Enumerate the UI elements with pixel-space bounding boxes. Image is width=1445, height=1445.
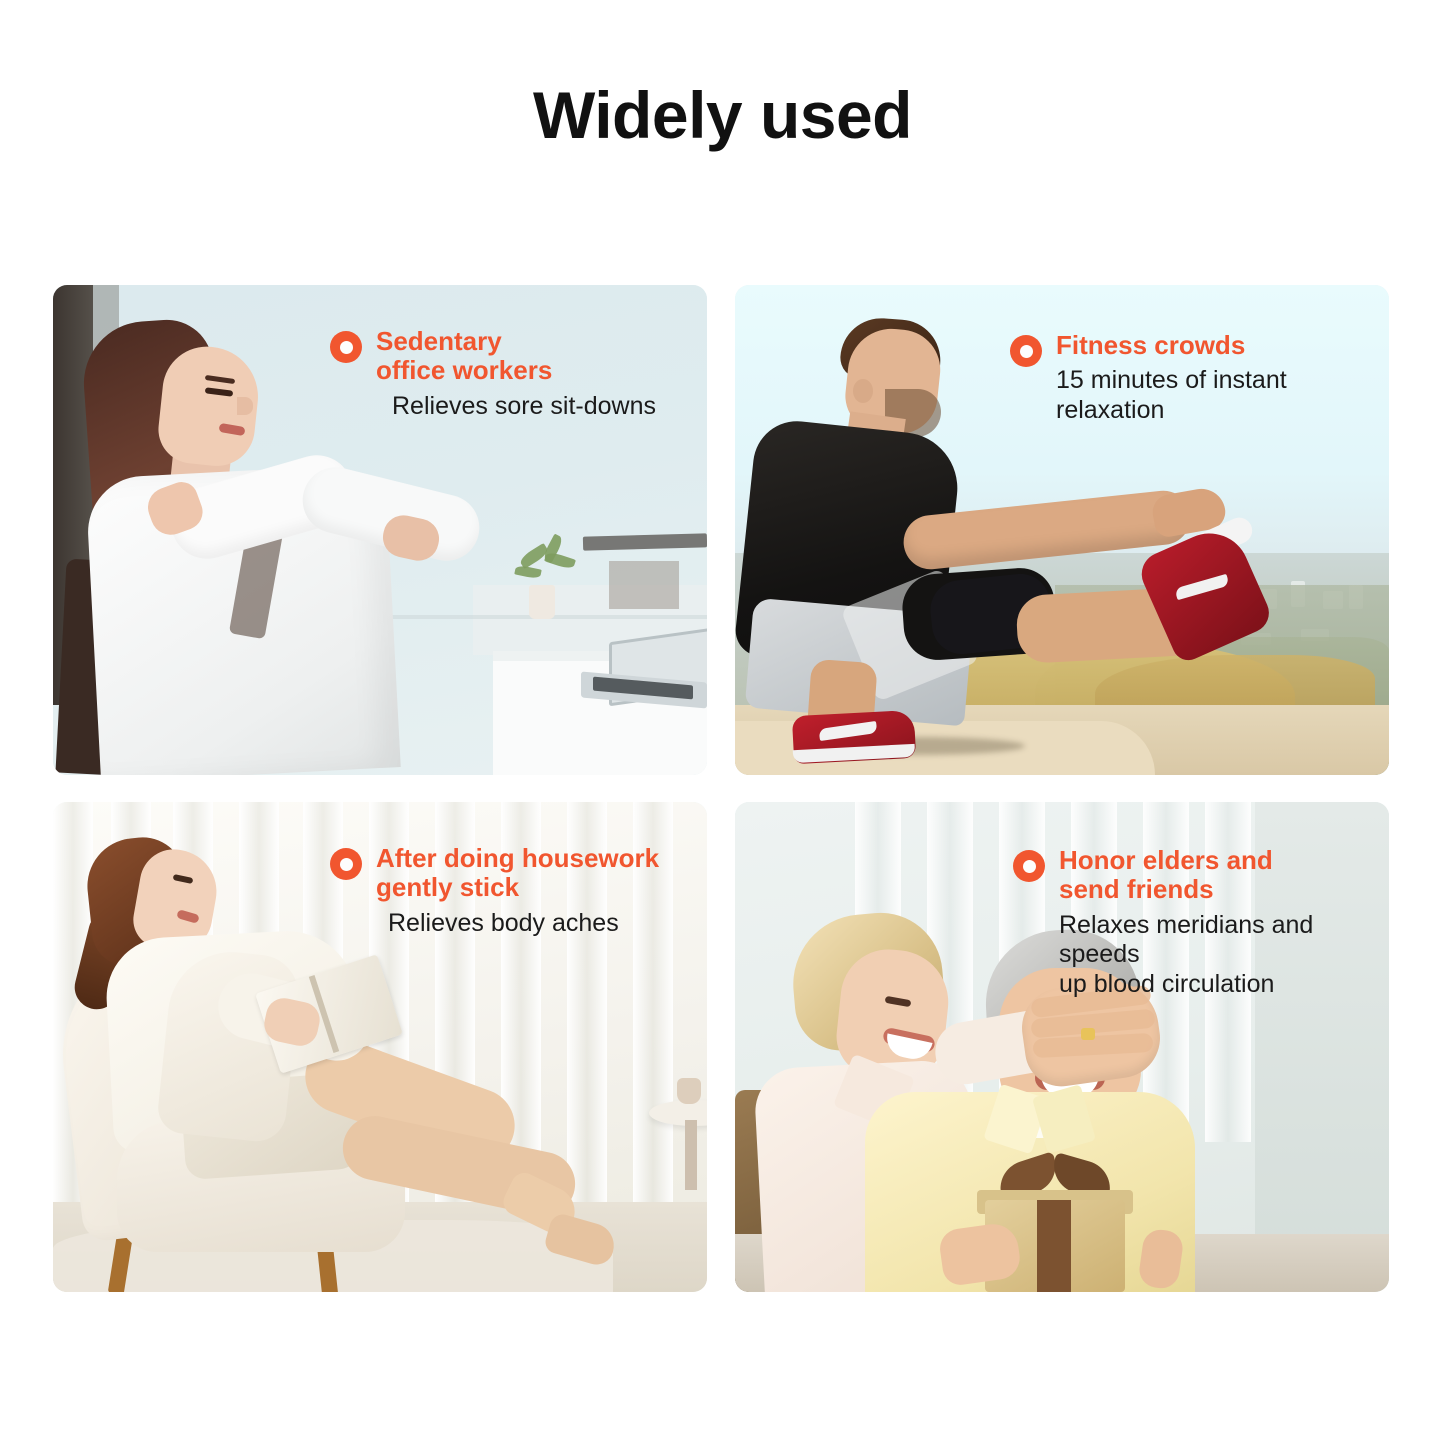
- caption-sedentary-office-workers: Sedentary office workers Relieves sore s…: [330, 327, 690, 421]
- caption-fitness-crowds: Fitness crowds 15 minutes of instant rel…: [1010, 331, 1380, 425]
- caption-heading: Sedentary office workers: [376, 327, 690, 386]
- caption-subtext: Relieves sore sit-downs: [392, 392, 690, 422]
- caption-heading: Fitness crowds: [1056, 331, 1380, 360]
- circle-ring-icon: [1010, 335, 1042, 367]
- caption-subtext: Relaxes meridians and speeds up blood ci…: [1059, 911, 1389, 1000]
- feature-card-after-doing-housework[interactable]: After doing housework gently stick Relie…: [53, 802, 707, 1292]
- circle-ring-icon: [330, 848, 362, 880]
- circle-ring-icon: [330, 331, 362, 363]
- caption-subtext: 15 minutes of instant relaxation: [1056, 366, 1380, 425]
- circle-ring-icon: [1013, 850, 1045, 882]
- caption-heading: After doing housework gently stick: [376, 844, 705, 903]
- feature-card-grid: Sedentary office workers Relieves sore s…: [53, 285, 1395, 1292]
- caption-heading: Honor elders and send friends: [1059, 846, 1389, 905]
- caption-honor-elders-and-send-friends: Honor elders and send friends Relaxes me…: [1013, 846, 1389, 999]
- page-title: Widely used: [0, 82, 1445, 148]
- feature-card-fitness-crowds[interactable]: Fitness crowds 15 minutes of instant rel…: [735, 285, 1389, 775]
- feature-card-sedentary-office-workers[interactable]: Sedentary office workers Relieves sore s…: [53, 285, 707, 775]
- feature-card-honor-elders-and-send-friends[interactable]: Honor elders and send friends Relaxes me…: [735, 802, 1389, 1292]
- promo-page: Widely used: [0, 0, 1445, 1445]
- caption-after-doing-housework: After doing housework gently stick Relie…: [330, 844, 705, 938]
- caption-subtext: Relieves body aches: [388, 909, 705, 939]
